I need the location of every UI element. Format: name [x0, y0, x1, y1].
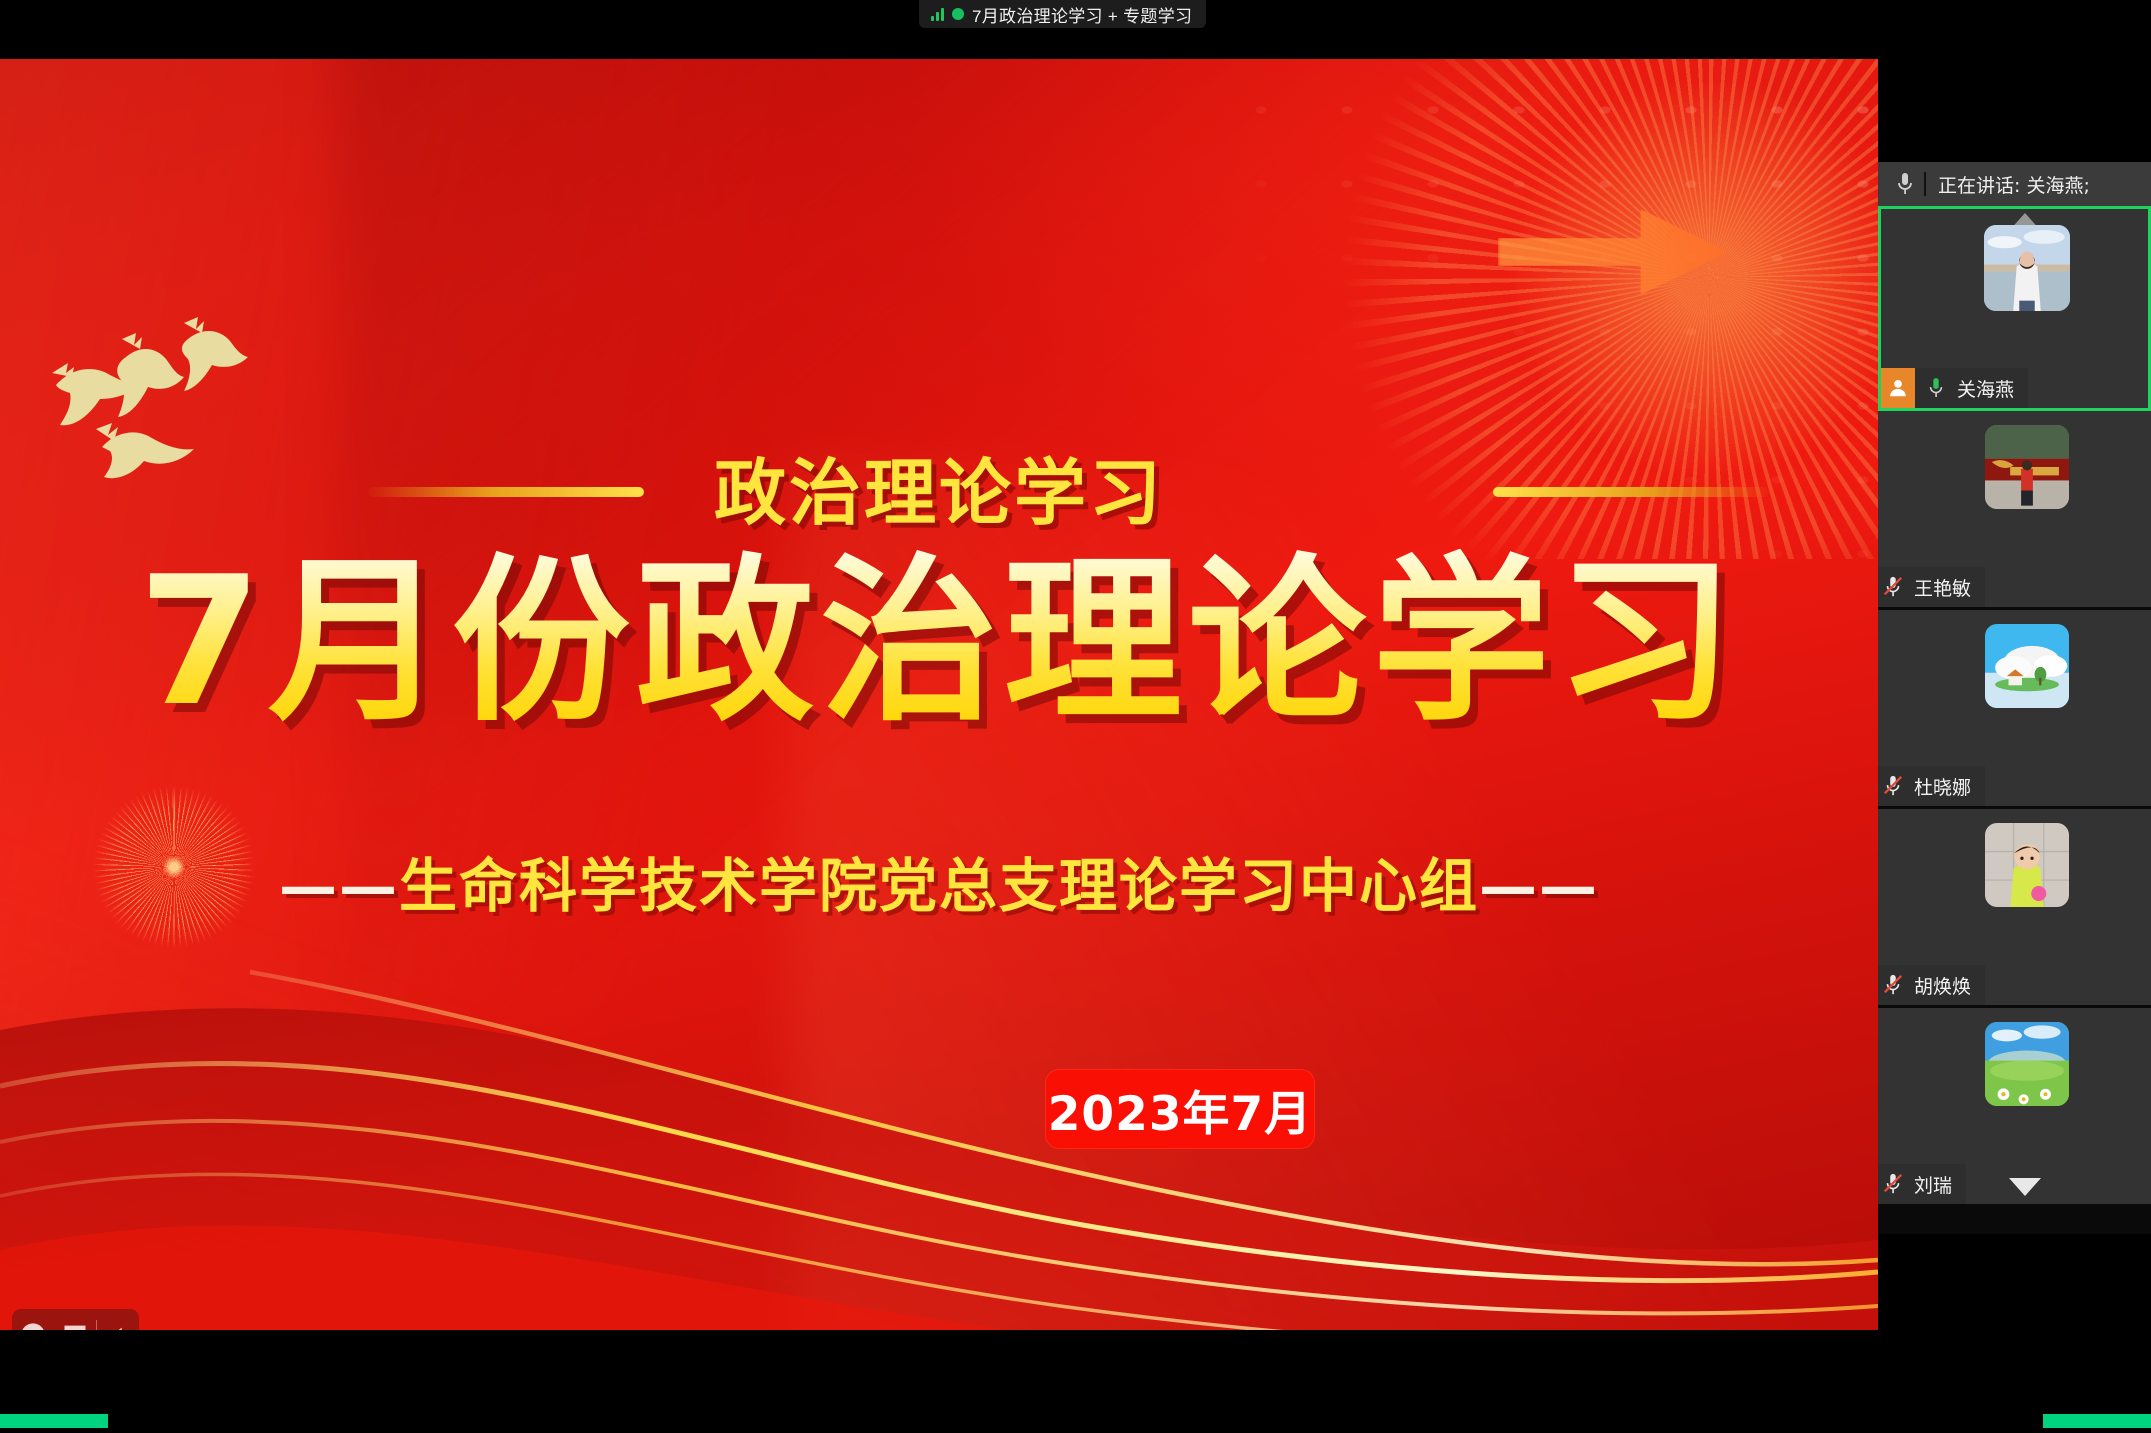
meeting-title-badge[interactable]: 7月政治理论学习 + 专题学习 — [919, 0, 1206, 28]
screen-root: 7月政治理论学习 + 专题学习 — [0, 0, 2151, 1433]
gold-ribbon-icon — [0, 910, 1878, 1330]
avatar — [1985, 624, 2069, 708]
meeting-title-text: 7月政治理论学习 + 专题学习 — [972, 2, 1192, 27]
chat-button[interactable] — [54, 1309, 96, 1330]
nameplate: 杜晓娜 — [1878, 766, 1985, 806]
nameplate: 刘瑞 — [1878, 1164, 1966, 1204]
date-badge: 2023年7月 — [1045, 1069, 1315, 1149]
slide-subtitle: ——生命科学技术学院党总支理论学习中心组—— — [0, 839, 1878, 923]
nameplate: 关海燕 — [1881, 368, 2028, 408]
active-speaker-label: 正在讲话: 关海燕; — [1938, 171, 2090, 198]
microphone-muted-icon — [1878, 1172, 1908, 1196]
floating-toolbar[interactable] — [12, 1309, 139, 1330]
participant-name: 刘瑞 — [1914, 1171, 1952, 1198]
bottom-letterbox — [0, 1330, 2151, 1433]
emblem-arrow-icon — [1498, 209, 1728, 295]
microphone-active-icon — [1921, 376, 1951, 400]
share-border-right — [2043, 1414, 2151, 1428]
active-speaker-bar: 正在讲话: 关海燕; — [1878, 162, 2151, 206]
participant-name: 王艳敏 — [1914, 574, 1971, 601]
participant-filmstrip[interactable]: 正在讲话: 关海燕; — [1878, 162, 2151, 1234]
shared-screen-slide: 政治理论学习 7月份政治理论学习 ——生命科学技术学院党总支理论学习中心组—— … — [0, 59, 1878, 1330]
nameplate: 胡焕焕 — [1878, 965, 1985, 1005]
participant-name: 杜晓娜 — [1914, 773, 1971, 800]
participant-tile-active[interactable]: 关海燕 — [1878, 206, 2151, 411]
participant-tile[interactable]: 杜晓娜 — [1878, 610, 2151, 809]
chevron-down-icon[interactable] — [2009, 1178, 2041, 1196]
avatar — [1984, 225, 2070, 311]
avatar — [1985, 425, 2069, 509]
share-border-left — [0, 1414, 108, 1428]
microphone-muted-icon — [1878, 973, 1908, 997]
subtitle-dash-left: —— — [279, 852, 399, 920]
avatar — [1985, 823, 2069, 907]
nameplate: 王艳敏 — [1878, 567, 1985, 607]
participant-name: 关海燕 — [1957, 375, 2014, 402]
subtitle-text: 生命科学技术学院党总支理论学习中心组 — [399, 852, 1479, 920]
chat-bubble-icon — [61, 1321, 89, 1330]
microphone-muted-icon — [1878, 575, 1908, 599]
recording-dot-icon — [952, 8, 964, 20]
chevron-left-icon — [107, 1324, 129, 1330]
microphone-muted-icon — [1878, 774, 1908, 798]
slide-eyebrow-title: 政治理论学习 — [0, 434, 1878, 539]
subtitle-dash-right: —— — [1479, 852, 1599, 920]
host-person-icon — [1881, 368, 1915, 408]
smiley-icon — [19, 1321, 47, 1330]
collapse-toolbar-button[interactable] — [97, 1309, 139, 1330]
participant-tile[interactable]: 刘瑞 — [1878, 1008, 2151, 1207]
slide-headline: 7月份政治理论学习 — [0, 549, 1878, 736]
signal-bars-icon — [931, 7, 944, 21]
reactions-button[interactable] — [12, 1309, 54, 1330]
participant-tile[interactable]: 王艳敏 — [1878, 411, 2151, 610]
participant-name: 胡焕焕 — [1914, 972, 1971, 999]
speaker-bar-divider — [1924, 172, 1926, 196]
participant-tile[interactable]: 胡焕焕 — [1878, 809, 2151, 1008]
avatar — [1985, 1022, 2069, 1106]
microphone-icon — [1888, 171, 1922, 197]
